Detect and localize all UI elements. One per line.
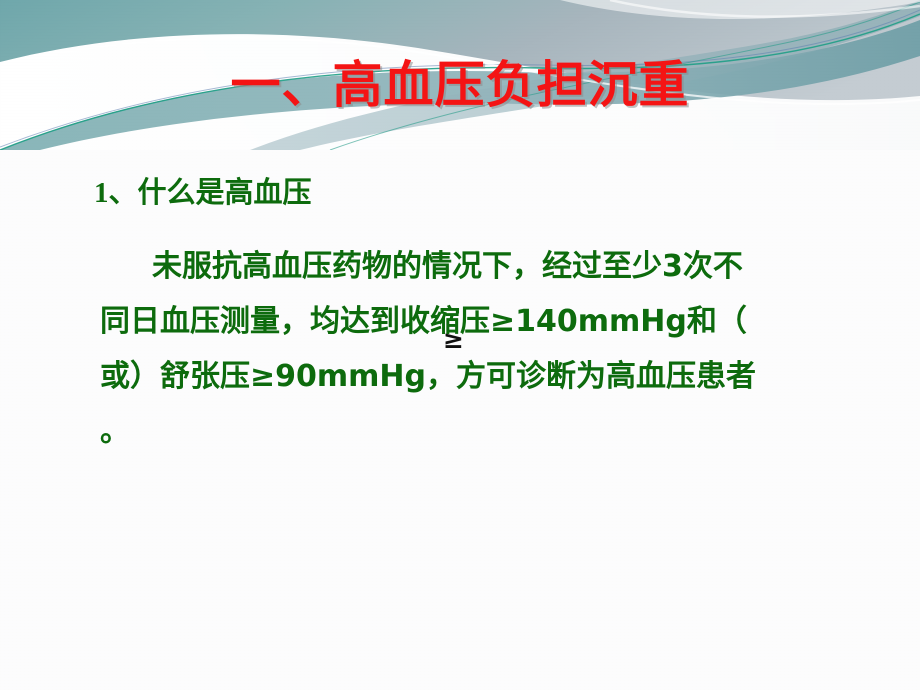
slide-body: 1、什么是高血压 未服抗高血压药物的情况下，经过至少3次不 同日血压测量，均达到… bbox=[0, 174, 920, 459]
paragraph-line-3: 或）舒张压≥90mmHg，方可诊断为高血压患者 bbox=[100, 349, 920, 404]
slide-canvas: 一、高血压负担沉重 1、什么是高血压 未服抗高血压药物的情况下，经过至少3次不 … bbox=[0, 0, 920, 690]
paragraph-line-1: 未服抗高血压药物的情况下，经过至少3次不 bbox=[100, 239, 920, 294]
paragraph-line-4: 。 bbox=[100, 404, 920, 459]
section-heading-text: 什么是高血压 bbox=[138, 175, 312, 209]
section-heading-number: 1、 bbox=[94, 177, 138, 209]
section-heading: 1、什么是高血压 bbox=[94, 174, 920, 211]
stray-greater-equal-glyph: ≥ bbox=[443, 325, 464, 354]
paragraph-line-2: 同日血压测量，均达到收缩压≥140mmHg和（ bbox=[100, 294, 920, 349]
slide-title: 一、高血压负担沉重 bbox=[0, 58, 920, 113]
